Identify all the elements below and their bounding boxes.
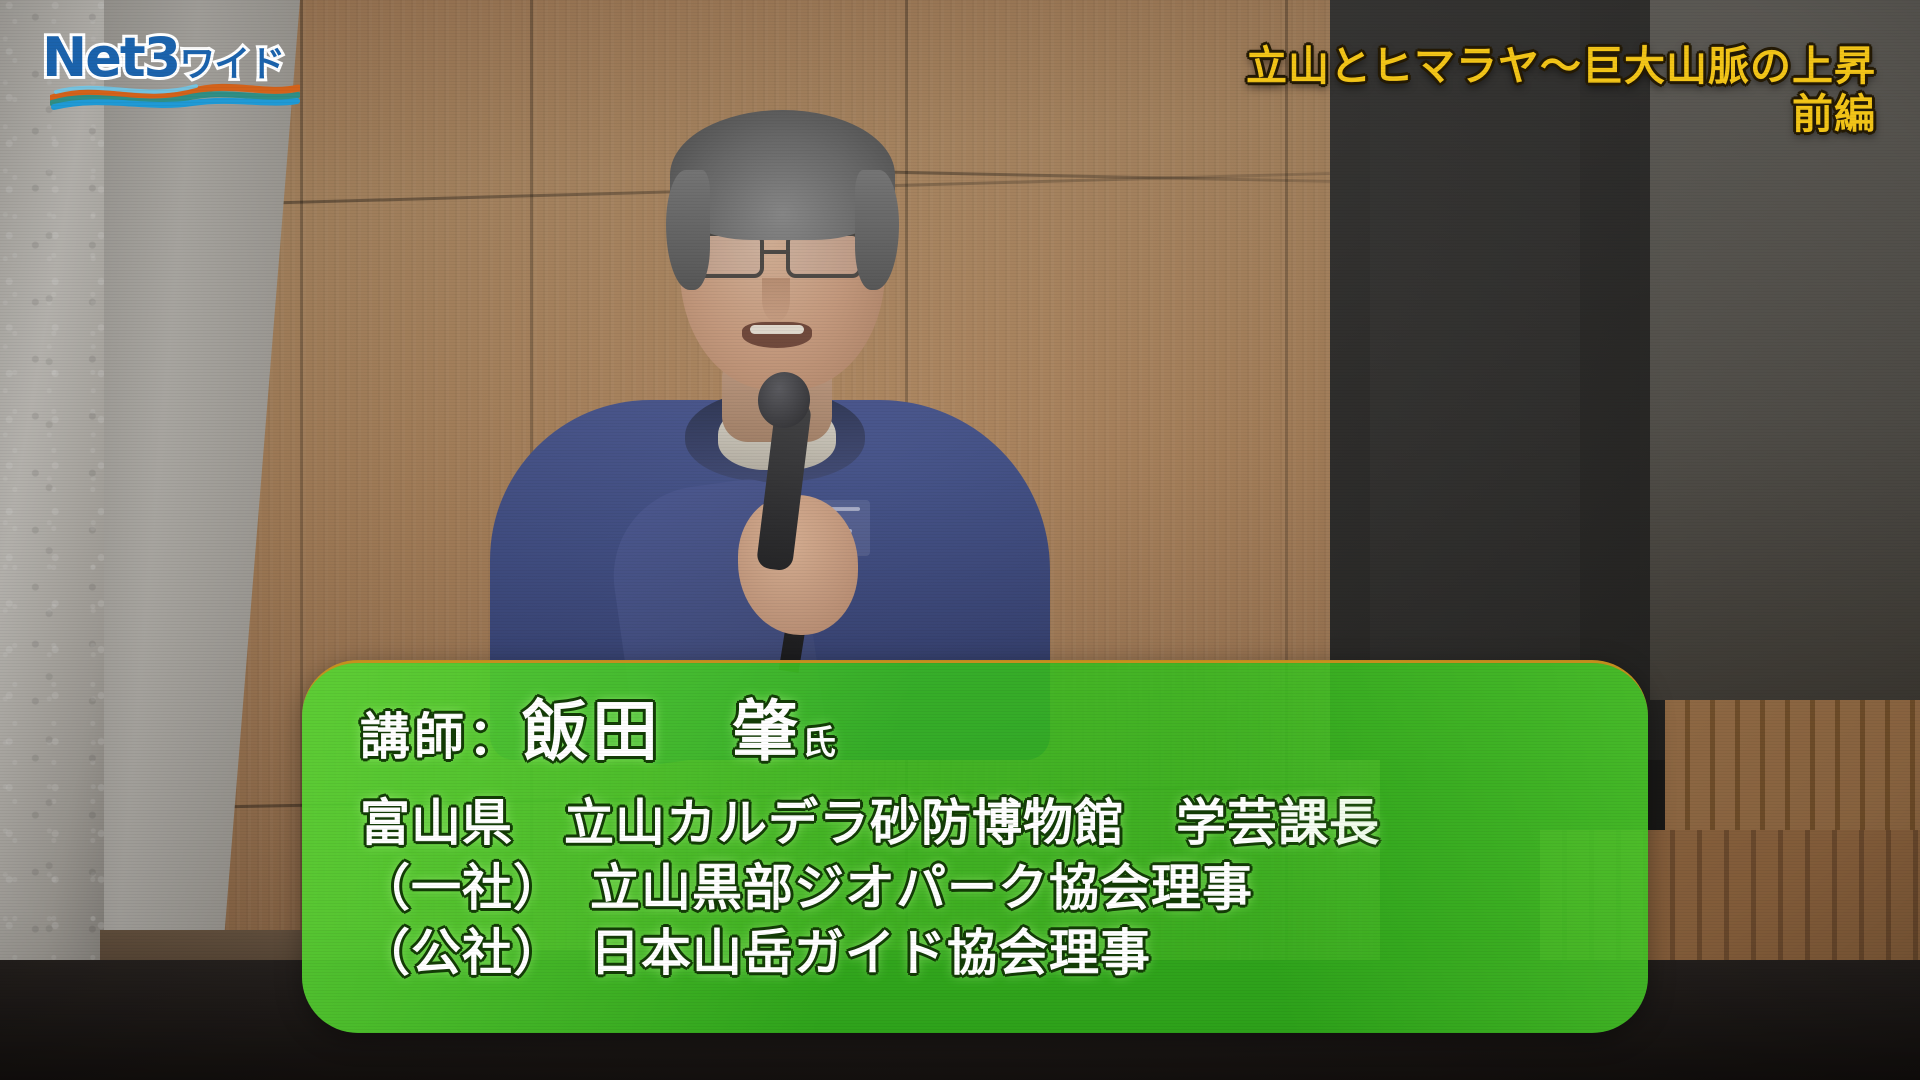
speaker-mouth [742,322,812,348]
caption-headline: 講師：飯田 肇氏 [360,699,1604,765]
speaker-hair-side [855,170,899,290]
caption-speaker-label: 講師： [360,708,522,766]
speaker-nose [762,278,790,322]
speaker-figure [470,100,1070,660]
caption-affiliation-1: 富山県 立山カルデラ砂防博物館 学芸課長 [360,791,1604,856]
caption-speaker-name: 飯田 肇 [522,693,802,770]
caption-speaker-honorific: 氏 [802,723,836,763]
wave-icon [50,76,300,110]
program-title-line1: 立山とヒマラヤ〜巨大山脈の上昇 [1246,42,1876,90]
caption-affiliation-3: （公社） 日本山岳ガイド協会理事 [360,921,1604,986]
speaker-caption-box: 講師：飯田 肇氏 富山県 立山カルデラ砂防博物館 学芸課長 （一社） 立山黒部ジ… [302,660,1648,1033]
broadcast-video-frame: Net3ワイド 立山とヒマラヤ〜巨大山脈の上昇 前編 講師：飯田 肇氏 富山県 … [0,0,1920,1080]
speaker-hair-side [666,170,710,290]
program-title: 立山とヒマラヤ〜巨大山脈の上昇 前編 [1016,42,1876,139]
channel-logo: Net3ワイド [42,26,302,104]
caption-content: 講師：飯田 肇氏 富山県 立山カルデラ砂防博物館 学芸課長 （一社） 立山黒部ジ… [302,663,1648,1000]
glasses-bridge [764,250,786,254]
caption-affiliation-2: （一社） 立山黒部ジオパーク協会理事 [360,856,1604,921]
stone-pillar [0,0,104,1080]
program-title-line2: 前編 [1016,90,1876,138]
